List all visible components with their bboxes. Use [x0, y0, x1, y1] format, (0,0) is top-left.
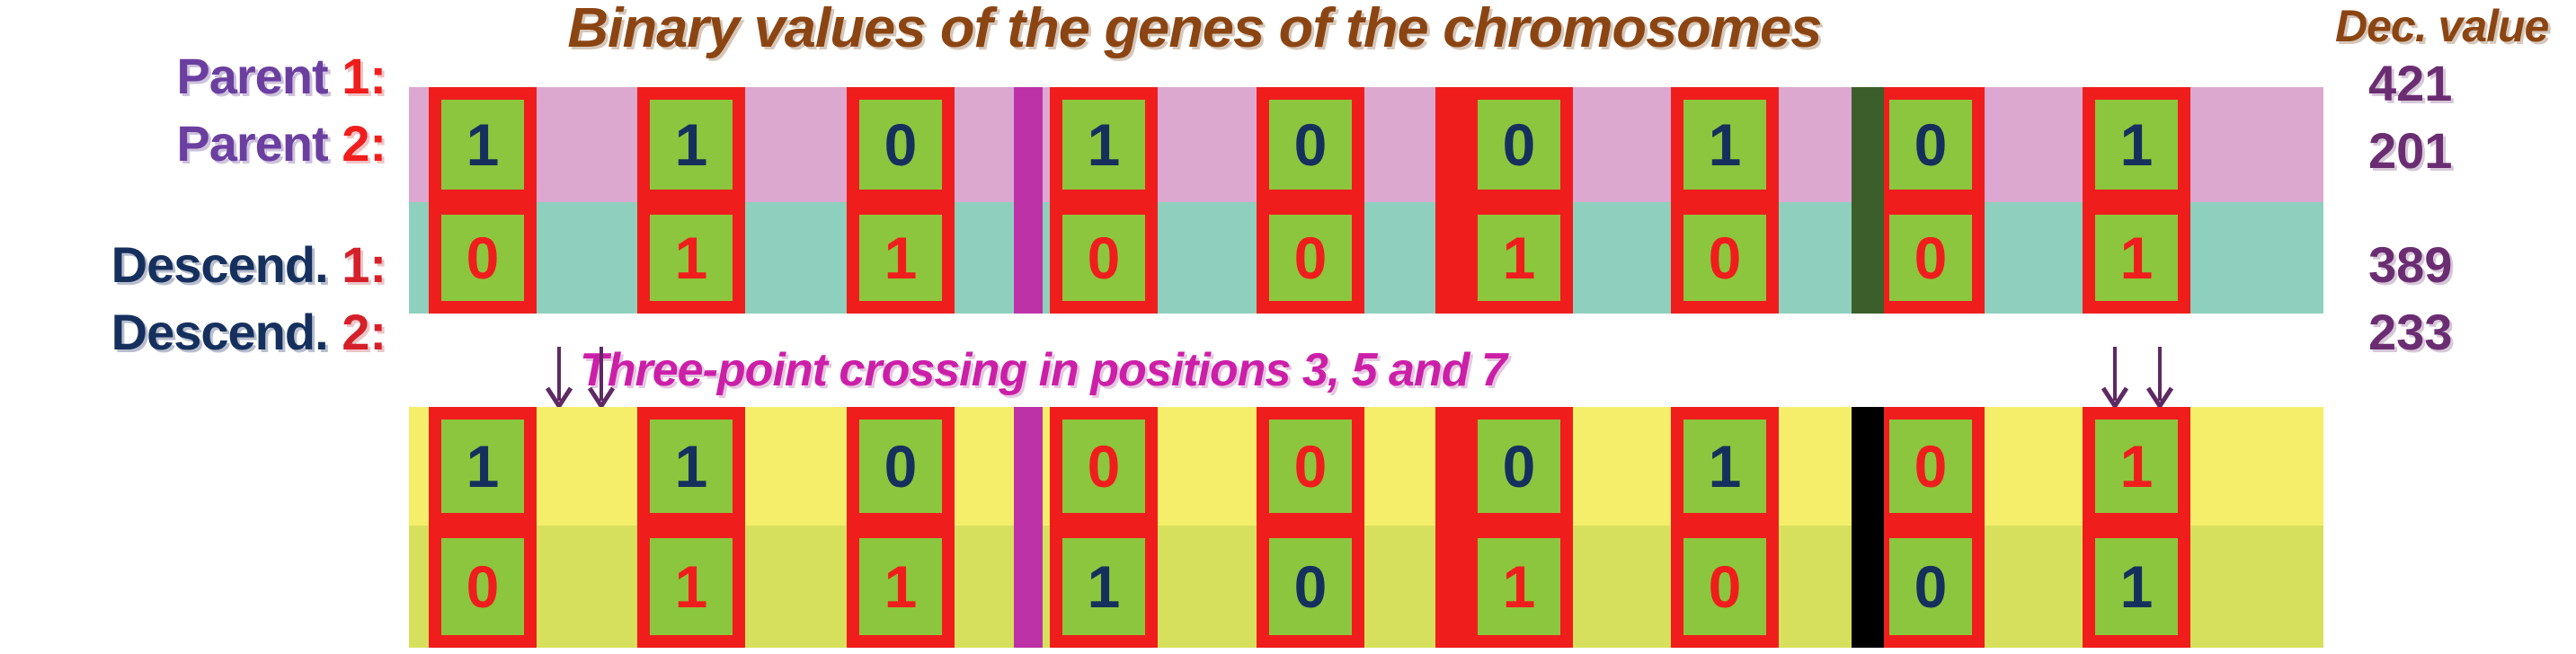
row-label-descend-2: Descend. 2:	[9, 303, 386, 361]
gene-column-5[interactable]: 00	[1257, 87, 1364, 314]
gene-cell-parent-1-8[interactable]: 0	[1889, 100, 1972, 190]
row-label-name: Parent	[176, 48, 327, 104]
gene-cell-parent-2-4[interactable]: 0	[1062, 215, 1145, 301]
gene-cell-descend-1-6[interactable]: 0	[1478, 420, 1560, 513]
row-label-number: 1:	[342, 48, 386, 104]
gene-column-3[interactable]: 01	[847, 407, 955, 648]
crossing-separator-pos-7	[1852, 87, 1884, 314]
gene-cell-parent-2-6[interactable]: 1	[1478, 215, 1560, 301]
gene-cell-descend-1-9[interactable]: 1	[2095, 420, 2178, 513]
gene-column-7[interactable]: 10	[1671, 87, 1779, 314]
gene-cell-parent-2-3[interactable]: 1	[859, 215, 942, 301]
gene-cell-descend-2-6[interactable]: 1	[1478, 538, 1560, 635]
gene-cell-descend-1-2[interactable]: 1	[650, 420, 733, 513]
gene-cell-parent-2-1[interactable]: 0	[441, 215, 524, 301]
gene-cell-parent-1-4[interactable]: 1	[1062, 100, 1145, 190]
gene-cell-parent-2-7[interactable]: 0	[1683, 215, 1766, 301]
gene-column-4[interactable]: 10	[1050, 87, 1158, 314]
crossing-separator-pos-5	[1435, 407, 1466, 648]
dec-value-parent-2: 201	[2368, 121, 2576, 180]
down-arrow-icon-1	[544, 347, 574, 410]
gene-cell-parent-1-5[interactable]: 0	[1269, 100, 1352, 190]
gene-cell-parent-2-8[interactable]: 0	[1889, 215, 1972, 301]
gene-column-9[interactable]: 11	[2083, 407, 2190, 648]
gene-column-5[interactable]: 00	[1257, 407, 1364, 648]
gene-cell-parent-1-6[interactable]: 0	[1478, 100, 1560, 190]
gene-cell-parent-1-7[interactable]: 1	[1683, 100, 1766, 190]
gene-column-8[interactable]: 00	[1877, 407, 1985, 648]
row-label-parent-1: Parent 1:	[9, 47, 386, 105]
gene-cell-parent-1-3[interactable]: 0	[859, 100, 942, 190]
crossing-separator-pos-5	[1435, 87, 1466, 314]
page-title: Binary values of the genes of the chromo…	[567, 0, 1821, 60]
gene-cell-descend-1-5[interactable]: 0	[1269, 420, 1352, 513]
dec-value-descend-1: 389	[2368, 235, 2576, 294]
gene-column-6[interactable]: 01	[1465, 407, 1573, 648]
gene-column-2[interactable]: 11	[637, 407, 745, 648]
gene-column-8[interactable]: 00	[1877, 87, 1985, 314]
row-label-number: 2:	[342, 115, 386, 172]
gene-cell-parent-1-9[interactable]: 1	[2095, 100, 2178, 190]
down-arrow-icon-4	[2145, 347, 2175, 410]
gene-cell-descend-1-4[interactable]: 0	[1062, 420, 1145, 513]
gene-cell-parent-1-1[interactable]: 1	[441, 100, 524, 190]
gene-cell-descend-2-3[interactable]: 1	[859, 538, 942, 635]
gene-column-4[interactable]: 01	[1050, 407, 1158, 648]
row-label-number: 2:	[342, 304, 386, 360]
row-label-descend-1: Descend. 1:	[9, 235, 386, 294]
row-label-name: Descend.	[111, 236, 328, 293]
gene-cell-parent-1-2[interactable]: 1	[650, 100, 733, 190]
dec-value-parent-1: 421	[2368, 54, 2576, 112]
gene-column-1[interactable]: 10	[429, 407, 537, 648]
row-label-number: 1:	[342, 236, 386, 293]
chromosome-strip-parents: 101101100001100011	[409, 87, 2323, 314]
gene-cell-descend-2-7[interactable]: 0	[1683, 538, 1766, 635]
gene-cell-descend-2-2[interactable]: 1	[650, 538, 733, 635]
gene-cell-parent-2-9[interactable]: 1	[2095, 215, 2178, 301]
crossing-note: Three-point crossing in positions 3, 5 a…	[580, 343, 1506, 397]
gene-column-1[interactable]: 10	[429, 87, 537, 314]
crossing-separator-pos-3	[1014, 407, 1043, 648]
gene-column-6[interactable]: 01	[1465, 87, 1573, 314]
figure-canvas: Binary values of the genes of the chromo…	[0, 0, 2576, 654]
gene-cell-descend-1-7[interactable]: 1	[1683, 420, 1766, 513]
crossing-separator-pos-3	[1014, 87, 1043, 314]
gene-cell-descend-2-1[interactable]: 0	[441, 538, 524, 635]
gene-column-9[interactable]: 11	[2083, 87, 2190, 314]
down-arrow-icon-2	[586, 347, 617, 410]
gene-cell-descend-2-8[interactable]: 0	[1889, 538, 1972, 635]
gene-column-7[interactable]: 10	[1671, 407, 1779, 648]
gene-cell-descend-2-9[interactable]: 1	[2095, 538, 2178, 635]
gene-column-3[interactable]: 01	[847, 87, 955, 314]
dec-value-header: Dec. value	[2335, 0, 2548, 52]
row-label-parent-2: Parent 2:	[9, 114, 386, 172]
gene-cell-descend-2-5[interactable]: 0	[1269, 538, 1352, 635]
crossing-separator-pos-7	[1852, 407, 1884, 648]
gene-cell-descend-1-8[interactable]: 0	[1889, 420, 1972, 513]
gene-cell-parent-2-5[interactable]: 0	[1269, 215, 1352, 301]
gene-cell-parent-2-2[interactable]: 1	[650, 215, 733, 301]
row-label-name: Descend.	[111, 304, 328, 360]
gene-cell-descend-2-4[interactable]: 1	[1062, 538, 1145, 635]
gene-cell-descend-1-3[interactable]: 0	[859, 420, 942, 513]
gene-column-2[interactable]: 11	[637, 87, 745, 314]
down-arrow-icon-3	[2100, 347, 2130, 410]
row-label-name: Parent	[176, 115, 327, 172]
chromosome-strip-descendants: 101101010001100011	[409, 407, 2323, 648]
dec-value-descend-2: 233	[2368, 303, 2576, 361]
gene-cell-descend-1-1[interactable]: 1	[441, 420, 524, 513]
